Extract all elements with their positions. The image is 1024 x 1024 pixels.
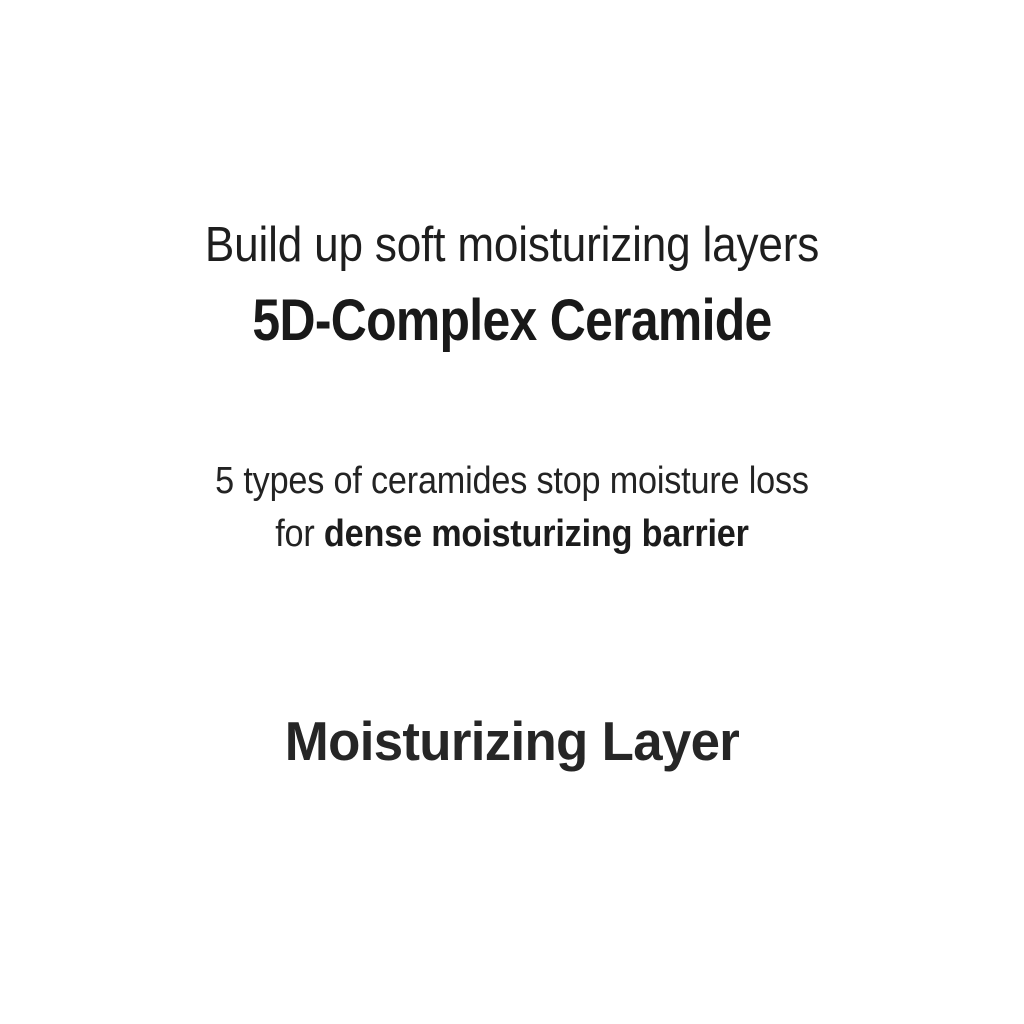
- hero-headline: 5D-Complex Ceramide: [72, 289, 953, 354]
- description-block: 5 types of ceramides stop moisture loss …: [0, 455, 1024, 561]
- description-line-2-prefix: for: [275, 513, 324, 555]
- hero-eyebrow: Build up soft moisturizing layers: [51, 218, 973, 273]
- section-label-block: Moisturizing Layer: [0, 708, 1024, 774]
- description-line-1: 5 types of ceramides stop moisture loss: [51, 455, 973, 508]
- hero-text-block: Build up soft moisturizing layers 5D-Com…: [0, 218, 1024, 354]
- description-line-2: for dense moisturizing barrier: [51, 508, 973, 561]
- description-line-2-emphasis: dense moisturizing barrier: [324, 513, 749, 555]
- section-label: Moisturizing Layer: [20, 708, 1003, 774]
- product-feature-slide: Build up soft moisturizing layers 5D-Com…: [0, 0, 1024, 1024]
